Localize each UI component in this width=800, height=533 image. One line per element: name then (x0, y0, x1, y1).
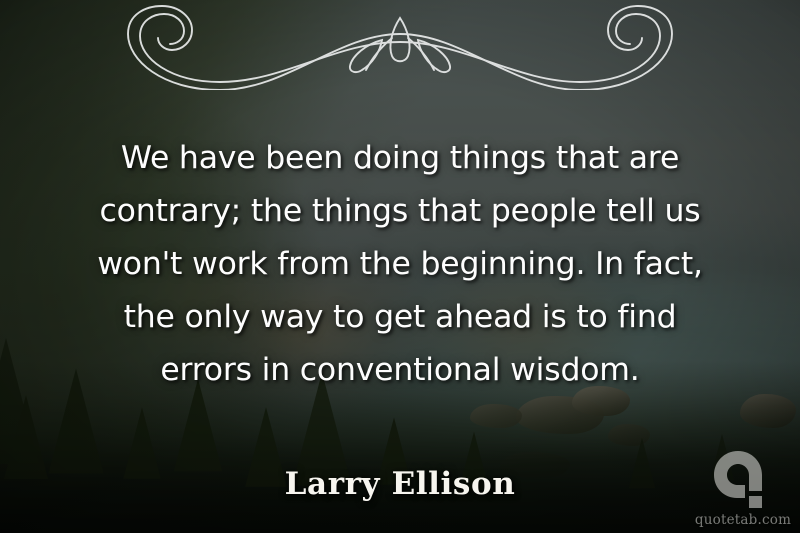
quote-card: We have been doing things that are contr… (0, 0, 800, 533)
quote-author: Larry Ellison (0, 466, 800, 502)
card-content: We have been doing things that are contr… (0, 0, 800, 533)
quote-text: We have been doing things that are contr… (40, 132, 760, 397)
quotetab-logo-icon (711, 449, 775, 511)
watermark[interactable]: quotetab.com (694, 441, 792, 529)
flourish-divider-icon (70, 4, 730, 90)
watermark-site-label: quotetab.com (695, 511, 791, 529)
